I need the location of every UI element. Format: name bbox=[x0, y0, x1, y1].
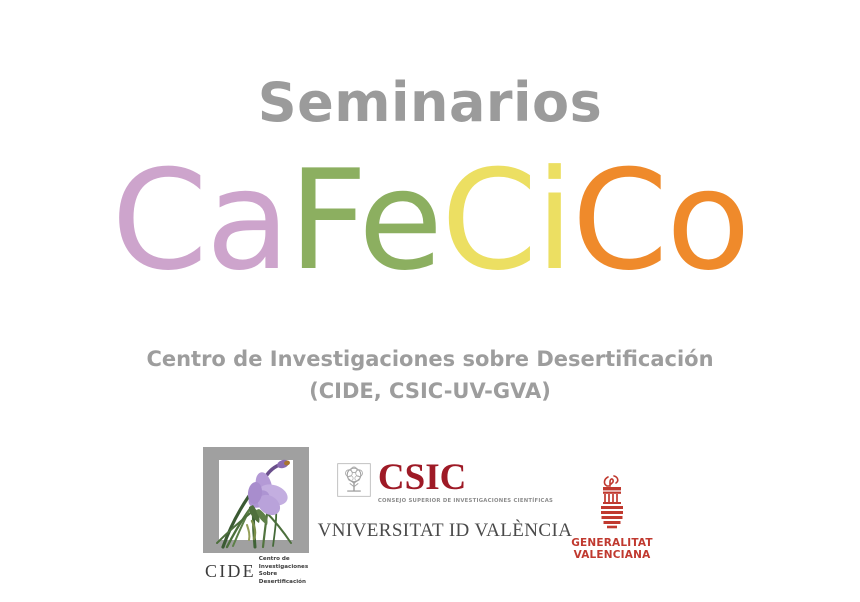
csic-wordmark: CSIC bbox=[378, 461, 466, 495]
csic-tree-seal-icon bbox=[337, 463, 371, 497]
csic-text-block: CSIC CONSEJO SUPERIOR DE INVESTIGACIONES… bbox=[378, 461, 553, 504]
uv-wordmark: VNIVERSITAT ID VALÈNCIA bbox=[318, 520, 573, 542]
cide-tagline-line-2: Sobre Desertificación bbox=[259, 571, 306, 585]
cide-emblem bbox=[203, 447, 309, 553]
brand-segment-fe: Fe bbox=[288, 140, 441, 301]
brand-segment-ca: Ca bbox=[111, 140, 288, 301]
gva-wordmark: GENERALITAT VALENCIANA bbox=[571, 537, 653, 561]
logo-cide: CIDE Centro de Investigaciones Sobre Des… bbox=[203, 447, 323, 586]
valencian-coat-of-arms-icon bbox=[590, 473, 634, 533]
cide-wordmark: CIDE bbox=[205, 562, 256, 580]
gva-line-2: VALENCIANA bbox=[571, 549, 653, 561]
csic-tagline: CONSEJO SUPERIOR DE INVESTIGACIONES CIEN… bbox=[378, 498, 553, 504]
logo-generalitat-valenciana: GENERALITAT VALENCIANA bbox=[567, 447, 657, 561]
uv-wordmark-text: VNIVERSITAT ID VALÈNCIA bbox=[318, 520, 573, 541]
cide-caption: CIDE Centro de Investigaciones Sobre Des… bbox=[205, 556, 323, 586]
subtitle-line-2: (CIDE, CSIC-UV-GVA) bbox=[146, 376, 713, 408]
subtitle-line-1: Centro de Investigaciones sobre Desertif… bbox=[146, 347, 713, 371]
poster-root: Seminarios CaFeCiCo Centro de Investigac… bbox=[0, 0, 860, 602]
cide-tagline-line-1: Centro de Investigaciones bbox=[259, 556, 308, 570]
logo-csic-uv: CSIC CONSEJO SUPERIOR DE INVESTIGACIONES… bbox=[345, 447, 545, 542]
brand-segment-co: Co bbox=[572, 140, 749, 301]
cide-tagline: Centro de Investigaciones Sobre Desertif… bbox=[259, 556, 323, 586]
brand-segment-ci: Ci bbox=[441, 140, 572, 301]
gva-line-1: GENERALITAT bbox=[571, 537, 653, 549]
brand-wordmark: CaFeCiCo bbox=[111, 152, 748, 290]
csic-lockup: CSIC CONSEJO SUPERIOR DE INVESTIGACIONES… bbox=[337, 461, 553, 504]
page-title: Seminarios bbox=[258, 76, 603, 130]
logo-row: CIDE Centro de Investigaciones Sobre Des… bbox=[203, 447, 657, 586]
subtitle: Centro de Investigaciones sobre Desertif… bbox=[146, 344, 713, 407]
iris-flower-icon bbox=[203, 447, 309, 553]
